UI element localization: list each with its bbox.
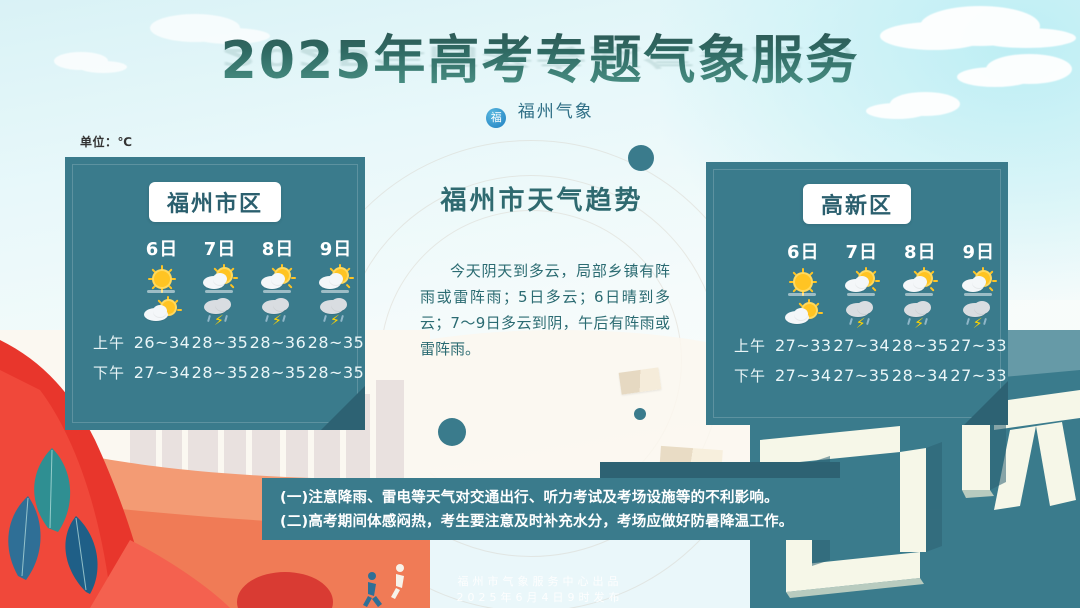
decor-dot xyxy=(438,418,466,446)
row-label-pm: 下午 xyxy=(93,357,133,387)
spacer-cell xyxy=(93,263,133,295)
table-row-icons-am xyxy=(93,263,365,295)
weather-cell xyxy=(133,263,191,295)
brand-logo: 福 福州气象 xyxy=(0,97,1080,128)
weather-cell xyxy=(833,266,891,298)
table-row-temps-am: 上午 26~34 28~35 28~36 28~35 xyxy=(93,327,365,357)
day-header: 6日 xyxy=(774,238,832,266)
partly-cloudy-icon xyxy=(784,299,822,329)
temp-cell: 28~34 xyxy=(891,360,949,390)
weather-cell: ⚡ xyxy=(249,295,307,327)
thunderstorm-icon: ⚡ xyxy=(201,296,239,326)
trend-title: 福州市天气趋势 xyxy=(392,180,692,217)
fu-badge-icon: 福 xyxy=(486,108,506,128)
temp-cell: 27~33 xyxy=(774,330,832,360)
footer-publisher: 福州市气象服务中心出品 xyxy=(0,574,1080,590)
day-header: 8日 xyxy=(891,238,949,266)
temp-cell: 28~35 xyxy=(891,330,949,360)
day-header: 8日 xyxy=(249,235,307,263)
forecast-panel-hightech: 高新区 6日 7日 8日 9日 xyxy=(706,162,1008,425)
footer-timestamp: 2025年6月4日9时发布 xyxy=(0,590,1080,606)
advisory-tab xyxy=(600,462,840,478)
weather-cell: ⚡ xyxy=(833,298,891,330)
weather-cell xyxy=(307,263,365,295)
weather-cell xyxy=(249,263,307,295)
partly-cloudy-icon xyxy=(201,264,239,294)
temp-cell: 27~34 xyxy=(133,357,191,387)
spacer-cell xyxy=(734,238,774,266)
temp-cell: 26~34 xyxy=(133,327,191,357)
temp-cell: 27~34 xyxy=(833,330,891,360)
advisory-banner: (一)注意降雨、雷电等天气对交通出行、听力考试及考场设施等的不利影响。 (二)高… xyxy=(262,478,840,540)
partly-cloudy-icon xyxy=(901,267,939,297)
footer: 福州市气象服务中心出品 2025年6月4日9时发布 xyxy=(0,574,1080,606)
day-header: 6日 xyxy=(133,235,191,263)
day-header: 7日 xyxy=(191,235,249,263)
table-row-icons-pm: ⚡ ⚡ ⚡ xyxy=(734,298,1008,330)
advisory-arrow xyxy=(840,478,880,540)
weather-cell: ⚡ xyxy=(891,298,949,330)
spacer-cell xyxy=(734,298,774,330)
day-header: 9日 xyxy=(307,235,365,263)
poster-canvas: 2025年高考专题气象服务 2025年高考专题气象服务 福 福州气象 单位：℃ … xyxy=(0,0,1080,608)
weather-cell xyxy=(133,295,191,327)
decor-dot xyxy=(634,408,646,420)
table-row-temps-pm: 下午 27~34 28~35 28~35 28~35 xyxy=(93,357,365,387)
panel-title-city: 福州市区 xyxy=(149,182,281,222)
temp-cell: 28~36 xyxy=(249,327,307,357)
panel-title-hightech: 高新区 xyxy=(803,184,911,224)
partly-cloudy-icon xyxy=(960,267,998,297)
row-label-pm: 下午 xyxy=(734,360,774,390)
thunderstorm-icon: ⚡ xyxy=(317,296,355,326)
panel-fold-corner xyxy=(964,381,1008,425)
weather-cell xyxy=(774,266,832,298)
forecast-table-city: 6日 7日 8日 9日 xyxy=(93,235,365,387)
spacer-cell xyxy=(734,266,774,298)
spacer-cell xyxy=(93,235,133,263)
weather-cell: ⚡ xyxy=(191,295,249,327)
spacer-cell xyxy=(93,295,133,327)
weather-cell xyxy=(774,298,832,330)
weather-cell: ⚡ xyxy=(307,295,365,327)
decor-dot xyxy=(628,145,654,171)
partly-cloudy-icon xyxy=(259,264,297,294)
table-row-days: 6日 7日 8日 9日 xyxy=(734,238,1008,266)
thunderstorm-icon: ⚡ xyxy=(901,299,939,329)
temp-cell: 28~35 xyxy=(191,357,249,387)
temp-cell: 28~35 xyxy=(249,357,307,387)
table-row-icons-am xyxy=(734,266,1008,298)
table-row-temps-am: 上午 27~33 27~34 28~35 27~33 xyxy=(734,330,1008,360)
advisory-line-1: (一)注意降雨、雷电等天气对交通出行、听力考试及考场设施等的不利影响。 xyxy=(280,486,826,510)
forecast-panel-city: 福州市区 6日 7日 8日 9日 xyxy=(65,157,365,430)
temp-cell: 28~35 xyxy=(191,327,249,357)
brand-name: 福州气象 xyxy=(518,97,594,122)
temp-cell: 27~35 xyxy=(833,360,891,390)
sunny-icon xyxy=(143,264,181,294)
weather-cell xyxy=(949,266,1008,298)
thunderstorm-icon: ⚡ xyxy=(843,299,881,329)
sunny-icon xyxy=(784,267,822,297)
day-header: 7日 xyxy=(833,238,891,266)
table-row-days: 6日 7日 8日 9日 xyxy=(93,235,365,263)
temp-cell: 27~34 xyxy=(774,360,832,390)
day-header: 9日 xyxy=(949,238,1008,266)
page-title-wrap: 2025年高考专题气象服务 xyxy=(0,18,1080,93)
row-label-am: 上午 xyxy=(734,330,774,360)
unit-label: 单位：℃ xyxy=(80,133,133,150)
trend-body: 今天阴天到多云，局部乡镇有阵雨或雷阵雨；5日多云；6日晴到多云；7～9日多云到阴… xyxy=(420,258,670,362)
weather-cell: ⚡ xyxy=(949,298,1008,330)
thunderstorm-icon: ⚡ xyxy=(259,296,297,326)
temp-cell: 28~35 xyxy=(307,357,365,387)
partly-cloudy-icon xyxy=(317,264,355,294)
thunderstorm-icon: ⚡ xyxy=(960,299,998,329)
row-label-am: 上午 xyxy=(93,327,133,357)
partly-cloudy-icon xyxy=(143,296,181,326)
temp-cell: 28~35 xyxy=(307,327,365,357)
temp-cell: 27~33 xyxy=(949,330,1008,360)
partly-cloudy-icon xyxy=(843,267,881,297)
advisory-line-2: (二)高考期间体感闷热，考生要注意及时补充水分，考场应做好防暑降温工作。 xyxy=(280,510,826,534)
weather-cell xyxy=(891,266,949,298)
forecast-table-hightech: 6日 7日 8日 9日 xyxy=(734,238,1008,390)
table-row-icons-pm: ⚡ ⚡ ⚡ xyxy=(93,295,365,327)
page-title: 2025年高考专题气象服务 xyxy=(221,18,860,93)
weather-cell xyxy=(191,263,249,295)
panel-fold-corner xyxy=(321,386,365,430)
